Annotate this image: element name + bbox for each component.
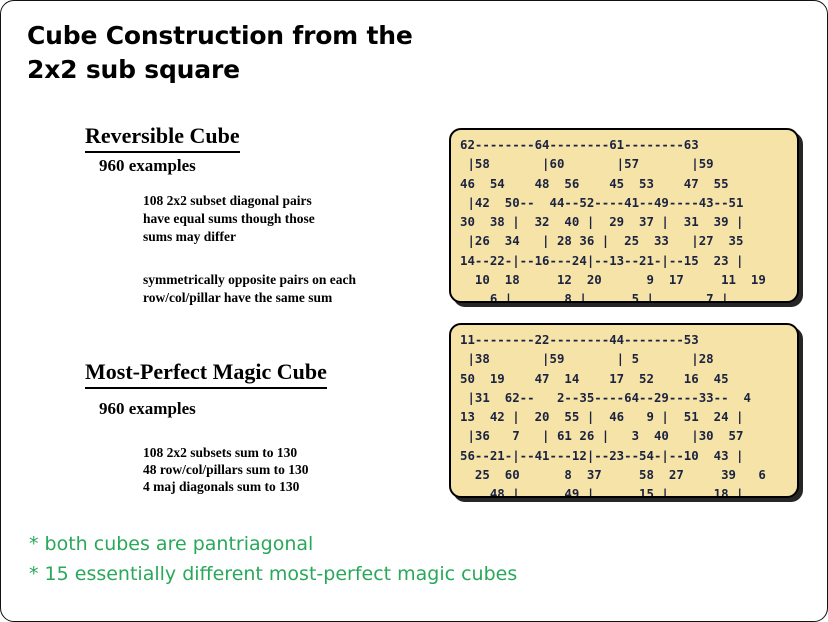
footnote-pantriagonal: * both cubes are pantriagonal [29, 533, 313, 555]
reversible-cube-examples-count: 960 examples [99, 156, 196, 176]
most-perfect-magic-cube-ascii-art: 11--------22--------44--------53 |38 |59… [451, 325, 797, 498]
reversible-cube-note-symmetric-pairs: symmetrically opposite pairs on each row… [143, 271, 356, 307]
reversible-cube-heading: Reversible Cube [85, 123, 240, 153]
reversible-cube-diagram-box: 62--------64--------61--------63 |58 |60… [449, 128, 799, 303]
page-title-line2: 2x2 sub square [27, 53, 497, 87]
most-perfect-magic-cube-note-sums: 108 2x2 subsets sum to 130 48 row/col/pi… [143, 444, 309, 495]
reversible-cube-ascii-art: 62--------64--------61--------63 |58 |60… [451, 130, 797, 303]
most-perfect-magic-cube-heading: Most-Perfect Magic Cube [85, 359, 327, 389]
most-perfect-magic-cube-diagram-box: 11--------22--------44--------53 |38 |59… [449, 323, 799, 498]
page-title-line1: Cube Construction from the [27, 21, 413, 50]
slide-page: Cube Construction from the 2x2 sub squar… [0, 0, 828, 622]
page-title: Cube Construction from the 2x2 sub squar… [27, 19, 497, 87]
most-perfect-magic-cube-examples-count: 960 examples [99, 399, 196, 419]
reversible-cube-note-diagonal-pairs: 108 2x2 subset diagonal pairs have equal… [143, 192, 315, 246]
footnote-essentially-different: * 15 essentially different most-perfect … [29, 563, 517, 585]
